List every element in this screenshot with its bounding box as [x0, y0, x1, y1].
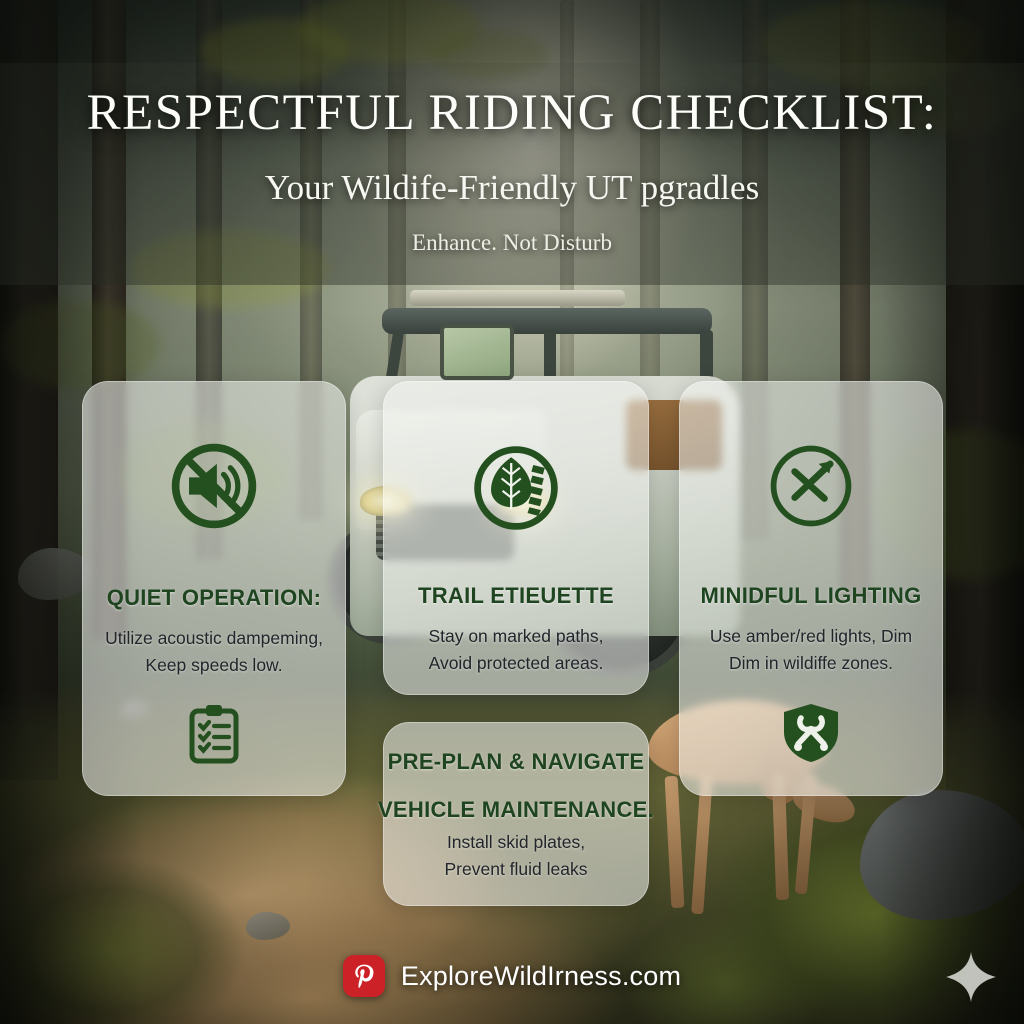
sparkle-icon — [944, 950, 998, 1004]
footer-brand-text: ExploreWildIrness.com — [401, 961, 681, 992]
pinterest-icon[interactable] — [343, 955, 385, 997]
card-body: Install skid plates, Prevent fluid leaks — [435, 829, 598, 882]
card-body: Use amber/red lights, Dim Dim in wildiff… — [700, 623, 922, 676]
infographic-poster: RESPECTFUL RIDING CHECKLIST: Your Wildif… — [0, 0, 1024, 1024]
page-tagline: Enhance. Not Disturb — [0, 230, 1024, 256]
page-subtitle: Your Wildife-Friendly UT pgradles — [0, 168, 1024, 208]
card-title: PRE-PLAN & NAVIGATE — [388, 749, 645, 775]
card-title: TRAIL ETIEUETTE — [418, 583, 614, 609]
leaf-tiretread-icon — [468, 440, 564, 541]
card-title: QUIET OPERATION: — [107, 585, 322, 611]
clipboard-checklist-icon — [186, 704, 242, 769]
card-mindful-lighting[interactable]: MINIDFUL LIGHTING Use amber/red lights, … — [679, 381, 943, 796]
footer-brand-bar[interactable]: ExploreWildIrness.com — [0, 955, 1024, 997]
header-title-block: RESPECTFUL RIDING CHECKLIST: Your Wildif… — [0, 84, 1024, 256]
card-title: MINIDFUL LIGHTING — [700, 583, 921, 609]
crossed-arrow-icon — [763, 438, 859, 539]
card-body: Stay on marked paths, Avoid protected ar… — [418, 623, 613, 676]
card-title-secondary: VEHICLE MAINTENANCE. — [378, 797, 654, 823]
card-pre-plan-navigate[interactable]: PRE-PLAN & NAVIGATE VEHICLE MAINTENANCE.… — [383, 722, 649, 906]
shield-wrench-icon — [780, 702, 842, 769]
card-trail-etiquette[interactable]: TRAIL ETIEUETTE Stay on marked paths, Av… — [383, 381, 649, 695]
card-quiet-operation[interactable]: QUIET OPERATION: Utilize acoustic dampem… — [82, 381, 346, 796]
no-sound-icon — [166, 438, 262, 539]
page-title: RESPECTFUL RIDING CHECKLIST: — [0, 84, 1024, 142]
card-body: Utilize acoustic dampeming, Keep speeds … — [95, 625, 333, 678]
